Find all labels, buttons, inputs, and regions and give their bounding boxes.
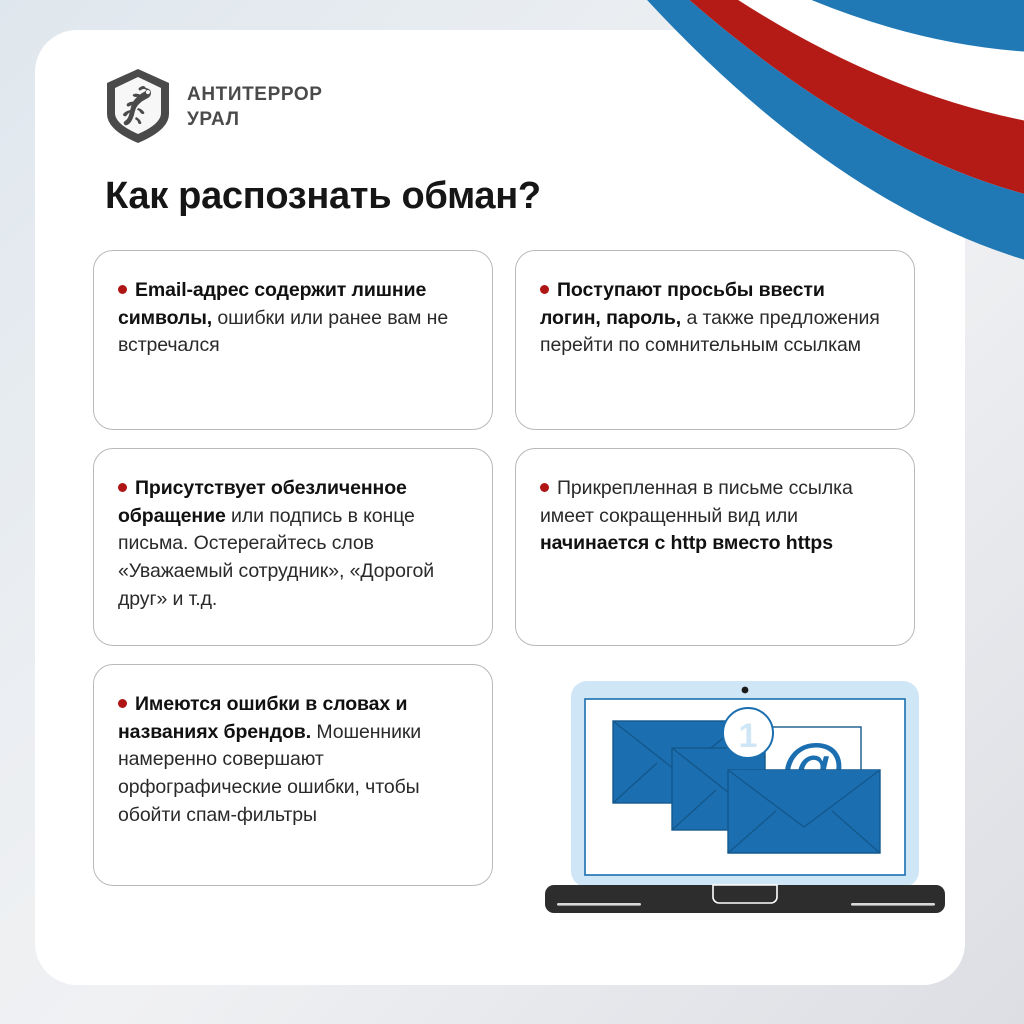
tip-card-shortened-link[interactable]: Прикрепленная в письме ссылка имеет сокр… xyxy=(515,448,915,646)
tip-card-impersonal-greeting[interactable]: Присутствует обезличенное обращение или … xyxy=(93,448,493,646)
page-title: Как распознать обман? xyxy=(105,175,541,218)
bullet-dot-icon xyxy=(118,285,127,294)
tips-row-2: Присутствует обезличенное обращение или … xyxy=(93,448,915,646)
brand-logo: АНТИТЕРРОР УРАЛ xyxy=(105,68,323,144)
tip-rest-text: Прикрепленная в письме ссылка имеет сокр… xyxy=(540,477,853,527)
trackpad-notch xyxy=(713,885,777,903)
shield-lizard-icon xyxy=(105,68,171,144)
notification-count: 1 xyxy=(739,717,758,755)
infographic-root: АНТИТЕРРОР УРАЛ Как распознать обман? Em… xyxy=(0,0,1024,1024)
tip-card-email-address[interactable]: Email-адрес содержит лишние символы, оши… xyxy=(93,250,493,430)
bullet-dot-icon xyxy=(118,483,127,492)
brand-text: АНТИТЕРРОР УРАЛ xyxy=(187,82,323,130)
tip-text: Имеются ошибки в словах и названиях брен… xyxy=(118,691,466,829)
tip-card-login-password[interactable]: Поступают просьбы ввести логин, пароль, … xyxy=(515,250,915,430)
tip-text: Поступают просьбы ввести логин, пароль, … xyxy=(540,277,888,360)
tips-row-1: Email-адрес содержит лишние символы, оши… xyxy=(93,250,915,430)
content-card: АНТИТЕРРОР УРАЛ Как распознать обман? Em… xyxy=(35,30,965,985)
tip-text: Email-адрес содержит лишние символы, оши… xyxy=(118,277,466,360)
tip-bold-text: начинается с http вместо https xyxy=(540,532,833,554)
tip-text: Присутствует обезличенное обращение или … xyxy=(118,475,466,613)
brand-line-2: УРАЛ xyxy=(187,109,323,130)
laptop-base xyxy=(545,885,945,913)
brand-line-1: АНТИТЕРРОР xyxy=(187,84,323,105)
bullet-dot-icon xyxy=(118,699,127,708)
tip-text: Прикрепленная в письме ссылка имеет сокр… xyxy=(540,475,888,558)
laptop-email-illustration: @ 1 xyxy=(535,675,955,930)
bullet-dot-icon xyxy=(540,285,549,294)
bullet-dot-icon xyxy=(540,483,549,492)
webcam-icon xyxy=(742,687,749,694)
notification-badge: 1 xyxy=(723,708,773,758)
tip-card-spelling-errors[interactable]: Имеются ошибки в словах и названиях брен… xyxy=(93,664,493,886)
envelope-front-icon xyxy=(728,770,880,853)
